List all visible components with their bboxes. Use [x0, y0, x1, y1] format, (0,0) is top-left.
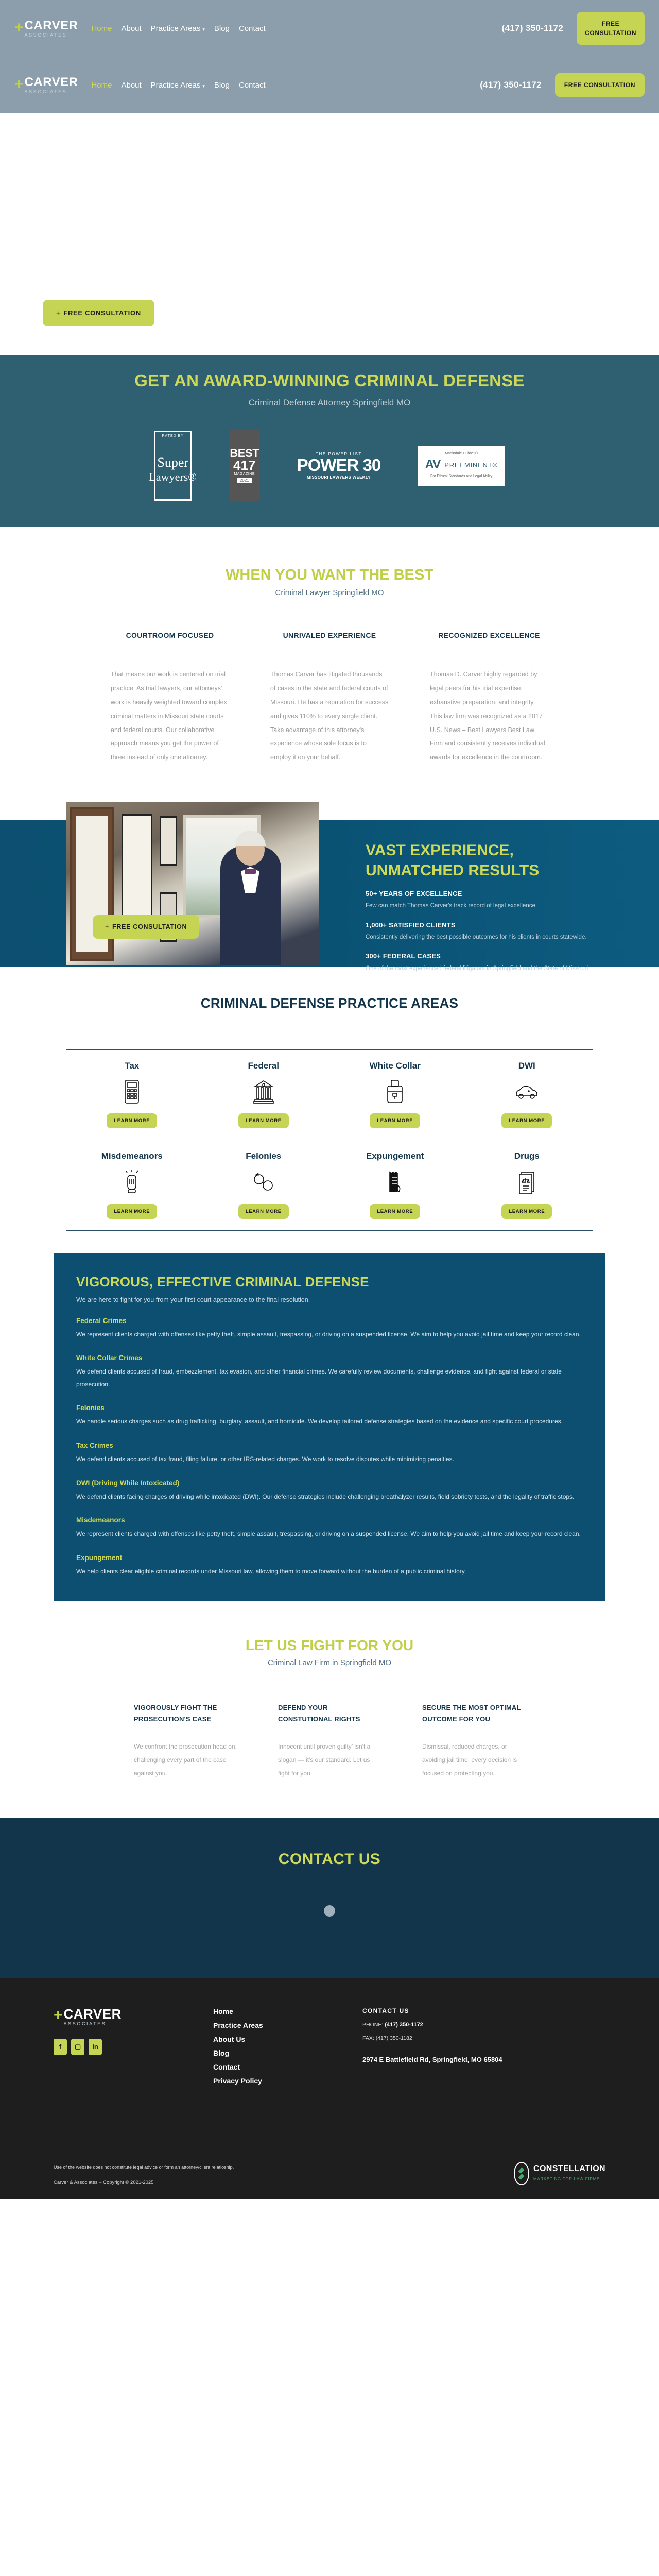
- nav-practice-label: Practice Areas: [151, 24, 201, 33]
- item-heading: Federal Crimes: [76, 1317, 583, 1325]
- handcuffs-icon: [252, 1169, 275, 1196]
- best-subtitle: Criminal Lawyer Springfield MO: [0, 588, 659, 597]
- plus-icon: +: [54, 2009, 63, 2022]
- card-title: Misdemeanors: [101, 1150, 163, 1161]
- practice-card-federal[interactable]: Federal LEARN MORE: [198, 1050, 330, 1140]
- vast-text-block: VAST EXPERIENCE, UNMATCHED RESULTS 50+ Y…: [366, 841, 608, 974]
- column-heading: VIGOROUSLY FIGHT THE PROSECUTION'S CASE: [134, 1702, 237, 1725]
- stat-years-of-excellence: 50+ YEARS OF EXCELLENCE Few can match Th…: [366, 890, 608, 912]
- best-column-unrivaled-experience: UNRIVALED EXPERIENCE Thomas Carver has l…: [270, 630, 389, 765]
- nav-item-blog[interactable]: Blog: [214, 81, 230, 90]
- logo-subtitle: ASSOCIATES: [25, 33, 78, 38]
- card-title: Felonies: [246, 1150, 281, 1161]
- practice-card-drugs[interactable]: Drugs LEARN MORE: [461, 1140, 593, 1230]
- footer-nav-blog[interactable]: Blog: [213, 2049, 332, 2057]
- av-initials: AV: [425, 457, 441, 472]
- best-417-magazine: MAGAZINE: [234, 472, 255, 476]
- footer-nav-practice-areas[interactable]: Practice Areas: [213, 2021, 332, 2029]
- footer-address[interactable]: 2974 E Battlefield Rd, Springfield, MO 6…: [362, 2053, 517, 2066]
- nav-item-blog[interactable]: Blog: [214, 24, 230, 33]
- vigorous-item-federal-crimes: Federal Crimes We represent clients char…: [76, 1317, 583, 1341]
- vigorous-defense-section: VIGOROUS, EFFECTIVE CRIMINAL DEFENSE We …: [54, 1253, 605, 1602]
- cta-line2: CONSULTATION: [585, 29, 636, 37]
- hero-free-consultation-button[interactable]: +FREE CONSULTATION: [43, 300, 154, 326]
- best-columns: COURTROOM FOCUSED That means our work is…: [0, 630, 659, 765]
- header-phone-sticky[interactable]: (417) 350-1172: [480, 80, 542, 90]
- stat-body: Few can match Thomas Carver's track reco…: [366, 900, 608, 911]
- super-lawyers-super: Super: [157, 456, 188, 469]
- awards-section: GET AN AWARD-WINNING CRIMINAL DEFENSE Cr…: [0, 355, 659, 527]
- award-plaque-3: [160, 816, 177, 866]
- when-you-want-the-best-section: WHEN YOU WANT THE BEST Criminal Lawyer S…: [0, 527, 659, 765]
- learn-more-button[interactable]: LEARN MORE: [107, 1204, 157, 1219]
- av-preeminent-badge: Martindale-Hubbell® AV PREEMINENT® For E…: [418, 446, 505, 486]
- loading-spinner-icon: [324, 1905, 335, 1917]
- legal-document-icon: [518, 1169, 535, 1196]
- column-heading: COURTROOM FOCUSED: [111, 630, 229, 641]
- awards-title: GET AN AWARD-WINNING CRIMINAL DEFENSE: [0, 371, 659, 391]
- cta-line1: FREE: [602, 20, 619, 27]
- agency-name: CONSTELLATION: [533, 2164, 605, 2173]
- learn-more-button[interactable]: LEARN MORE: [370, 1113, 420, 1128]
- learn-more-button[interactable]: LEARN MORE: [501, 1113, 552, 1128]
- item-body: We help clients clear eligible criminal …: [76, 1565, 583, 1578]
- vigorous-item-felonies: Felonies We handle serious charges such …: [76, 1404, 583, 1428]
- phone-label: PHONE:: [362, 2022, 383, 2028]
- header-phone[interactable]: (417) 350-1172: [502, 23, 564, 33]
- plus-icon: +: [105, 923, 109, 930]
- item-heading: Felonies: [76, 1404, 583, 1412]
- agency-tagline: MARKETING FOR LAW FIRMS: [533, 2177, 600, 2181]
- stat-heading: 1,000+ SATISFIED CLIENTS: [366, 921, 608, 929]
- nav-item-home[interactable]: Home: [91, 81, 112, 90]
- top-header-bar: + CARVER ASSOCIATES Home About Practice …: [0, 0, 659, 57]
- free-consultation-button-sticky[interactable]: FREE CONSULTATION: [555, 73, 645, 97]
- fax-label: FAX:: [362, 2035, 374, 2041]
- item-body: We defend clients facing charges of driv…: [76, 1490, 583, 1503]
- nav-item-about[interactable]: About: [121, 81, 141, 90]
- footer-nav: Home Practice Areas About Us Blog Contac…: [213, 2007, 332, 2085]
- facebook-icon[interactable]: f: [54, 2039, 67, 2055]
- fight-column-constitutional-rights: DEFEND YOUR CONSTUTIONAL RIGHTS Innocent…: [278, 1702, 381, 1780]
- free-consultation-button[interactable]: FREE CONSULTATION: [577, 12, 645, 45]
- footer-contact: CONTACT US PHONE: (417) 350-1172 FAX: (4…: [362, 2007, 517, 2085]
- fist-icon: [123, 1169, 141, 1196]
- practice-card-felonies[interactable]: Felonies LEARN MORE: [198, 1140, 330, 1230]
- vigorous-title: VIGOROUS, EFFECTIVE CRIMINAL DEFENSE: [76, 1274, 583, 1290]
- power-30-badge: THE POWER LIST POWER 30 MISSOURI LAWYERS…: [297, 452, 381, 480]
- vast-title: VAST EXPERIENCE, UNMATCHED RESULTS: [366, 841, 608, 880]
- logo-name: CARVER: [25, 76, 78, 89]
- column-body: We confront the prosecution head on, cha…: [134, 1740, 237, 1781]
- best-title: WHEN YOU WANT THE BEST: [0, 567, 659, 584]
- best-column-courtroom-focused: COURTROOM FOCUSED That means our work is…: [111, 630, 229, 765]
- learn-more-button[interactable]: LEARN MORE: [501, 1204, 552, 1219]
- best-417-year: 2021: [237, 478, 252, 483]
- item-heading: Tax Crimes: [76, 1442, 583, 1449]
- column-body: Thomas Carver has litigated thousands of…: [270, 668, 389, 765]
- item-heading: DWI (Driving While Intoxicated): [76, 1479, 583, 1487]
- av-ethics-label: For Ethical Standards and Legal Ability: [425, 474, 498, 480]
- card-title: DWI: [518, 1060, 535, 1071]
- vast-free-consultation-button[interactable]: +FREE CONSULTATION: [93, 915, 199, 939]
- nav-practice-label: Practice Areas: [151, 81, 201, 90]
- item-heading: Expungement: [76, 1554, 583, 1562]
- learn-more-button[interactable]: LEARN MORE: [238, 1113, 289, 1128]
- card-title: Drugs: [514, 1150, 540, 1161]
- plus-icon: +: [14, 78, 24, 91]
- award-badges: RATED BY Super Lawyers® BEST 417 MAGAZIN…: [0, 430, 659, 502]
- vigorous-item-expungement: Expungement We help clients clear eligib…: [76, 1554, 583, 1578]
- briefcase-icon: [386, 1078, 404, 1105]
- site-logo-sticky[interactable]: + CARVER ASSOCIATES: [14, 76, 78, 94]
- attorney-bowtie: [245, 869, 256, 874]
- column-body: That means our work is centered on trial…: [111, 668, 229, 765]
- phone-value: (417) 350-1172: [385, 2022, 423, 2028]
- practice-card-dwi[interactable]: DWI LEARN MORE: [461, 1050, 593, 1140]
- stat-satisfied-clients: 1,000+ SATISFIED CLIENTS Consistently de…: [366, 921, 608, 943]
- nav-item-about[interactable]: About: [121, 24, 141, 33]
- sticky-header-bar: + CARVER ASSOCIATES Home About Practice …: [0, 57, 659, 113]
- best-417-badge: BEST 417 MAGAZINE 2021: [229, 430, 260, 502]
- awards-subtitle: Criminal Defense Attorney Springfield MO: [0, 398, 659, 408]
- stat-heading: 50+ YEARS OF EXCELLENCE: [366, 890, 608, 898]
- site-footer: + CARVER ASSOCIATES f ▢ in Home Practice…: [0, 1978, 659, 2199]
- nav-item-practice-areas[interactable]: Practice Areas▾: [151, 24, 205, 33]
- column-heading: DEFEND YOUR CONSTUTIONAL RIGHTS: [278, 1702, 381, 1725]
- calculator-icon: [124, 1078, 140, 1105]
- let-us-fight-section: LET US FIGHT FOR YOU Criminal Law Firm i…: [0, 1601, 659, 1780]
- logo-subtitle: ASSOCIATES: [25, 90, 78, 94]
- av-martindale-label: Martindale-Hubbell®: [425, 452, 498, 455]
- footer-copyright: Carver & Associates – Copyright © 2021-2…: [54, 2180, 234, 2185]
- footer-nav-home[interactable]: Home: [213, 2007, 332, 2015]
- footer-divider: [54, 2142, 605, 2142]
- social-links: f ▢ in: [54, 2039, 182, 2055]
- item-body: We represent clients charged with offens…: [76, 1328, 583, 1341]
- fight-column-prosecution: VIGOROUSLY FIGHT THE PROSECUTION'S CASE …: [134, 1702, 237, 1780]
- card-title: Expungement: [366, 1150, 424, 1161]
- plus-icon: +: [14, 22, 24, 34]
- attorney-office-photo: [66, 802, 319, 965]
- vigorous-item-misdemeanors: Misdemeanors We represent clients charge…: [76, 1516, 583, 1540]
- logo-subtitle: ASSOCIATES: [64, 2022, 122, 2026]
- practice-card-white-collar[interactable]: White Collar LEARN MORE: [329, 1050, 461, 1140]
- instagram-icon[interactable]: ▢: [71, 2039, 84, 2055]
- fight-title: LET US FIGHT FOR YOU: [0, 1637, 659, 1654]
- learn-more-button[interactable]: LEARN MORE: [238, 1204, 289, 1219]
- receipt-icon: [387, 1169, 403, 1196]
- footer-brand: + CARVER ASSOCIATES f ▢ in: [54, 2007, 182, 2085]
- power-30-sub: MISSOURI LAWYERS WEEKLY: [297, 475, 381, 480]
- logo-name: CARVER: [25, 20, 78, 32]
- fight-subtitle: Criminal Law Firm in Springfield MO: [0, 1658, 659, 1667]
- footer-contact-heading: CONTACT US: [362, 2007, 517, 2014]
- site-logo[interactable]: + CARVER ASSOCIATES: [14, 20, 78, 38]
- logo-name: CARVER: [64, 2007, 122, 2021]
- column-body: Innocent until proven guilty’ isn't a sl…: [278, 1740, 381, 1781]
- super-lawyers-lawyers: Lawyers®: [149, 471, 196, 483]
- footer-nav-privacy-policy[interactable]: Privacy Policy: [213, 2077, 332, 2085]
- vast-experience-section: +FREE CONSULTATION VAST EXPERIENCE, UNMA…: [0, 791, 659, 967]
- chevron-down-icon: ▾: [202, 83, 205, 89]
- column-body: Dismissal, reduced charges, or avoiding …: [422, 1740, 525, 1781]
- footer-nav-about-us[interactable]: About Us: [213, 2035, 332, 2043]
- nav-item-contact[interactable]: Contact: [239, 24, 266, 33]
- contact-section: CONTACT US: [0, 1818, 659, 1978]
- power-30-main: POWER 30: [297, 456, 381, 473]
- constellation-agency-logo[interactable]: CONSTELLATION MARKETING FOR LAW FIRMS: [514, 2162, 605, 2185]
- av-preeminent-label: PREEMINENT®: [444, 461, 498, 469]
- practice-card-tax[interactable]: Tax LEARN MORE: [66, 1050, 198, 1140]
- stat-federal-cases: 300+ FEDERAL CASES One of the most exper…: [366, 952, 608, 974]
- column-heading: SECURE THE MOST OPTIMAL OUTCOME FOR YOU: [422, 1702, 525, 1725]
- card-title: Tax: [125, 1060, 139, 1071]
- chevron-down-icon: ▾: [202, 27, 205, 32]
- stat-body: One of the most experienced federal liti…: [366, 963, 608, 974]
- super-lawyers-badge: RATED BY Super Lawyers®: [154, 431, 192, 501]
- fax-value: (417) 350-1182: [376, 2035, 412, 2041]
- item-body: We represent clients charged with offens…: [76, 1528, 583, 1540]
- footer-phone-line[interactable]: PHONE: (417) 350-1172: [362, 2022, 517, 2028]
- item-body: We handle serious charges such as drug t…: [76, 1415, 583, 1428]
- card-title: White Collar: [370, 1060, 421, 1071]
- main-nav: Home About Practice Areas▾ Blog Contact: [91, 24, 265, 33]
- award-plaque-2: [122, 814, 152, 927]
- learn-more-button[interactable]: LEARN MORE: [107, 1113, 157, 1128]
- vigorous-item-white-collar-crimes: White Collar Crimes We defend clients ac…: [76, 1354, 583, 1391]
- vigorous-item-dwi: DWI (Driving While Intoxicated) We defen…: [76, 1479, 583, 1503]
- main-nav-sticky: Home About Practice Areas▾ Blog Contact: [91, 81, 265, 90]
- practice-areas-section: CRIMINAL DEFENSE PRACTICE AREAS Tax LEAR…: [0, 967, 659, 1231]
- stat-body: Consistently delivering the best possibl…: [366, 931, 608, 943]
- card-title: Federal: [248, 1060, 279, 1071]
- item-heading: Misdemeanors: [76, 1516, 583, 1524]
- column-heading: UNRIVALED EXPERIENCE: [270, 630, 389, 641]
- fight-columns: VIGOROUSLY FIGHT THE PROSECUTION'S CASE …: [0, 1702, 659, 1780]
- car-icon: [515, 1078, 539, 1105]
- item-body: We defend clients accused of fraud, embe…: [76, 1365, 583, 1391]
- nav-item-contact[interactable]: Contact: [239, 81, 266, 90]
- hero-section: +FREE CONSULTATION: [0, 113, 659, 355]
- vast-cta-label: FREE CONSULTATION: [112, 923, 187, 930]
- learn-more-button[interactable]: LEARN MORE: [370, 1204, 420, 1219]
- nav-item-home[interactable]: Home: [91, 24, 112, 33]
- constellation-mark-icon: [514, 2162, 529, 2185]
- vigorous-lead: We are here to fight for you from your f…: [76, 1296, 583, 1303]
- column-body: Thomas D. Carver highly regarded by lega…: [430, 668, 548, 765]
- footer-logo[interactable]: + CARVER ASSOCIATES: [54, 2007, 169, 2026]
- vigorous-item-tax-crimes: Tax Crimes We defend clients accused of …: [76, 1442, 583, 1466]
- fight-column-optimal-outcome: SECURE THE MOST OPTIMAL OUTCOME FOR YOU …: [422, 1702, 525, 1780]
- plus-icon: +: [56, 309, 60, 317]
- item-heading: White Collar Crimes: [76, 1354, 583, 1362]
- page-root: + CARVER ASSOCIATES Home About Practice …: [0, 0, 659, 2199]
- footer-disclaimer: Use of the website does not constitute l…: [54, 2164, 234, 2171]
- practice-card-expungement[interactable]: Expungement LEARN MORE: [329, 1140, 461, 1230]
- practice-areas-grid: Tax LEARN MORE Federal: [66, 1049, 593, 1231]
- super-lawyers-rated-label: RATED BY: [160, 434, 185, 438]
- contact-title: CONTACT US: [0, 1851, 659, 1868]
- item-body: We defend clients accused of tax fraud, …: [76, 1453, 583, 1466]
- practice-areas-title: CRIMINAL DEFENSE PRACTICE AREAS: [0, 995, 659, 1011]
- stat-heading: 300+ FEDERAL CASES: [366, 952, 608, 960]
- footer-fax-line: FAX: (417) 350-1182: [362, 2035, 517, 2041]
- best-417-number: 417: [233, 459, 255, 472]
- courthouse-icon: [253, 1078, 274, 1105]
- nav-item-practice-areas[interactable]: Practice Areas▾: [151, 81, 205, 90]
- practice-card-misdemeanors[interactable]: Misdemeanors LEARN MORE: [66, 1140, 198, 1230]
- linkedin-icon[interactable]: in: [89, 2039, 102, 2055]
- footer-nav-contact[interactable]: Contact: [213, 2063, 332, 2071]
- hero-cta-label: FREE CONSULTATION: [63, 309, 141, 317]
- best-column-recognized-excellence: RECOGNIZED EXCELLENCE Thomas D. Carver h…: [430, 630, 548, 765]
- column-heading: RECOGNIZED EXCELLENCE: [430, 630, 548, 641]
